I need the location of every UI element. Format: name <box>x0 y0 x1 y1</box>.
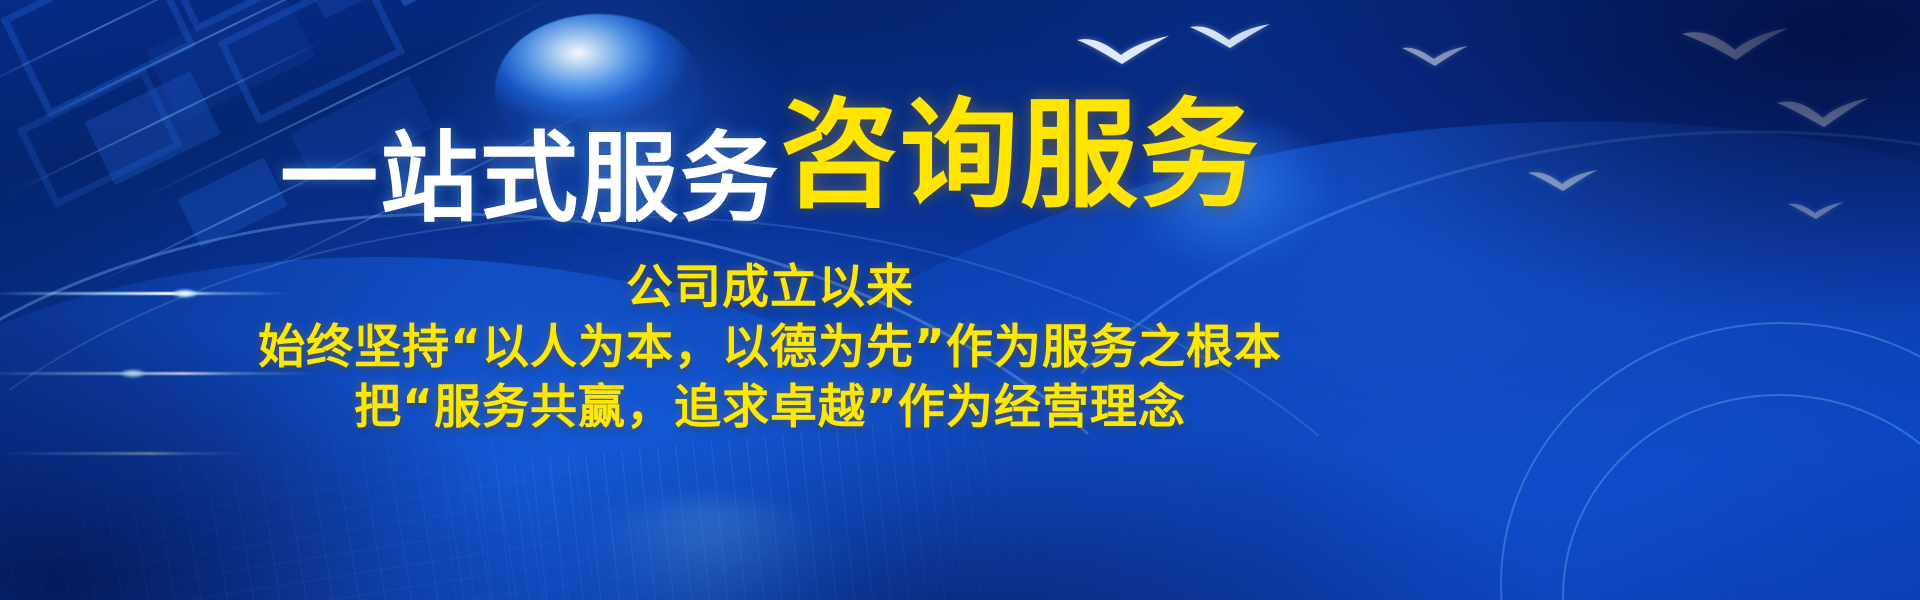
headline: 一站式服务咨询服务 <box>0 96 1540 228</box>
body-line-3: 把“服务共赢，追求卓越”作为经营理念 <box>0 378 1540 438</box>
corporate-banner: 一站式服务咨询服务 公司成立以来 始终坚持“以人为本，以德为先”作为服务之根本 … <box>0 0 1920 600</box>
headline-accent: 咨询服务 <box>780 86 1260 224</box>
radial-fan-bottom-right <box>1540 340 1920 600</box>
headline-primary: 一站式服务 <box>280 122 780 236</box>
bird-icon-1 <box>1075 34 1171 68</box>
body-line-1: 公司成立以来 <box>0 258 1540 318</box>
lens-flare-streak-3 <box>0 452 250 455</box>
bird-icon-4 <box>1680 26 1790 64</box>
body-text-block: 公司成立以来 始终坚持“以人为本，以德为先”作为服务之根本 把“服务共赢，追求卓… <box>0 258 1540 438</box>
bird-icon-3 <box>1400 44 1470 70</box>
bird-icon-5 <box>1775 96 1871 130</box>
body-line-2: 始终坚持“以人为本，以德为先”作为服务之根本 <box>0 318 1540 378</box>
bird-icon-2 <box>1188 22 1272 52</box>
